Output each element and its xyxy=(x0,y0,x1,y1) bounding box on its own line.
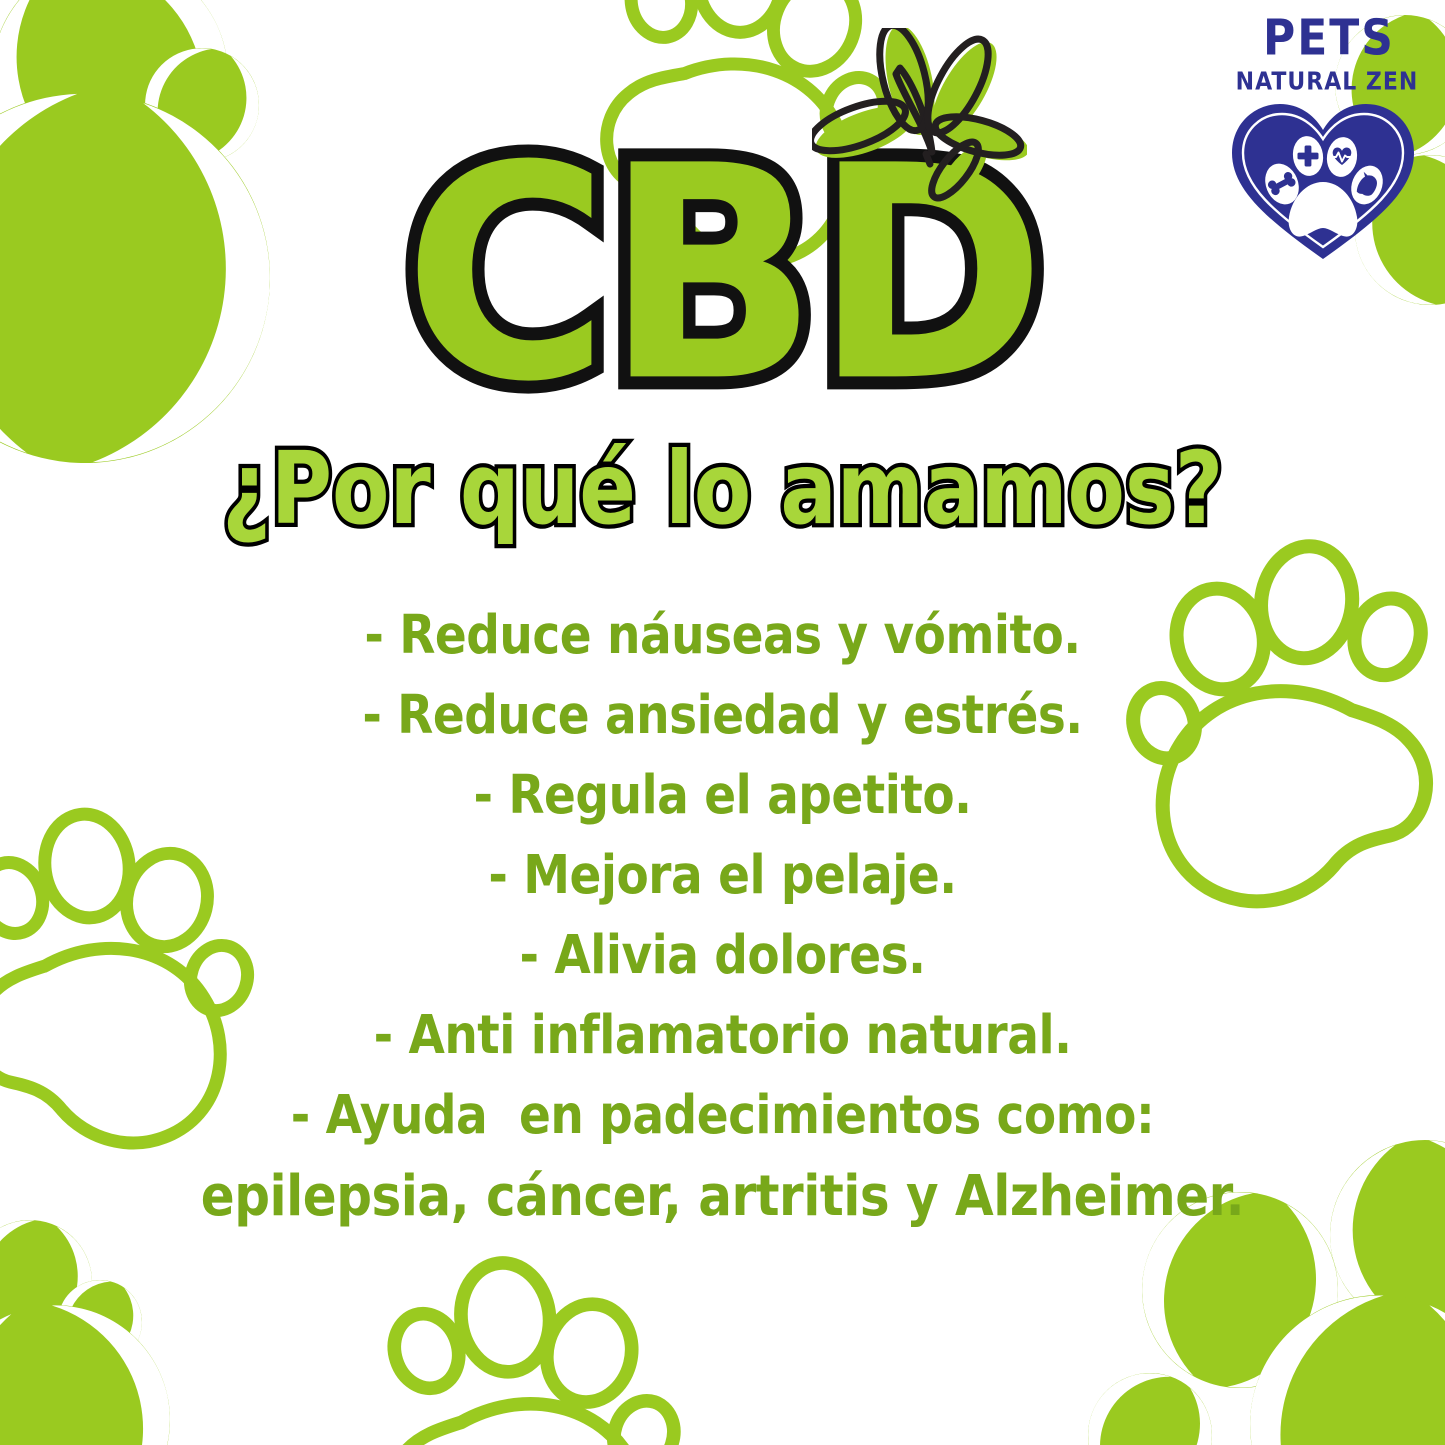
list-item: - Alivia dolores. xyxy=(0,911,1445,1001)
list-item: - Regula el apetito. xyxy=(0,751,1445,841)
list-item: - Ayuda en padecimientos como: xyxy=(0,1071,1445,1161)
benefits-list: - Reduce náuseas y vómito. - Reduce ansi… xyxy=(0,596,1445,1236)
list-item: - Anti inflamatorio natural. xyxy=(0,991,1445,1081)
cannabis-leaf-cluster-icon xyxy=(812,28,1027,208)
subtitle-block: ¿Por qué lo amamos? xyxy=(0,440,1445,522)
brand-name-sub: NATURAL ZEN xyxy=(1234,70,1420,95)
cbd-title-block: CBD xyxy=(0,118,1445,383)
tennis-ball-bottom-right-4 xyxy=(1065,1350,1234,1445)
paw-print-bottom-center xyxy=(385,1257,683,1445)
list-item: - Reduce náuseas y vómito. xyxy=(0,591,1445,681)
list-item: - Reduce ansiedad y estrés. xyxy=(0,671,1445,761)
list-item: - Mejora el pelaje. xyxy=(0,831,1445,921)
tennis-ball-left-lower-2 xyxy=(44,1266,156,1378)
tennis-ball-left-lower-3 xyxy=(0,1284,191,1445)
page-subtitle: ¿Por qué lo amamos? xyxy=(222,440,1223,540)
brand-name-main: PETS xyxy=(1244,14,1414,63)
cbd-benefits-poster: PETS NATURAL ZEN xyxy=(0,0,1445,1445)
list-item: epilepsia, cáncer, artritis y Alzheimer. xyxy=(0,1151,1445,1241)
tennis-ball-bottom-right-3 xyxy=(1226,1271,1445,1445)
